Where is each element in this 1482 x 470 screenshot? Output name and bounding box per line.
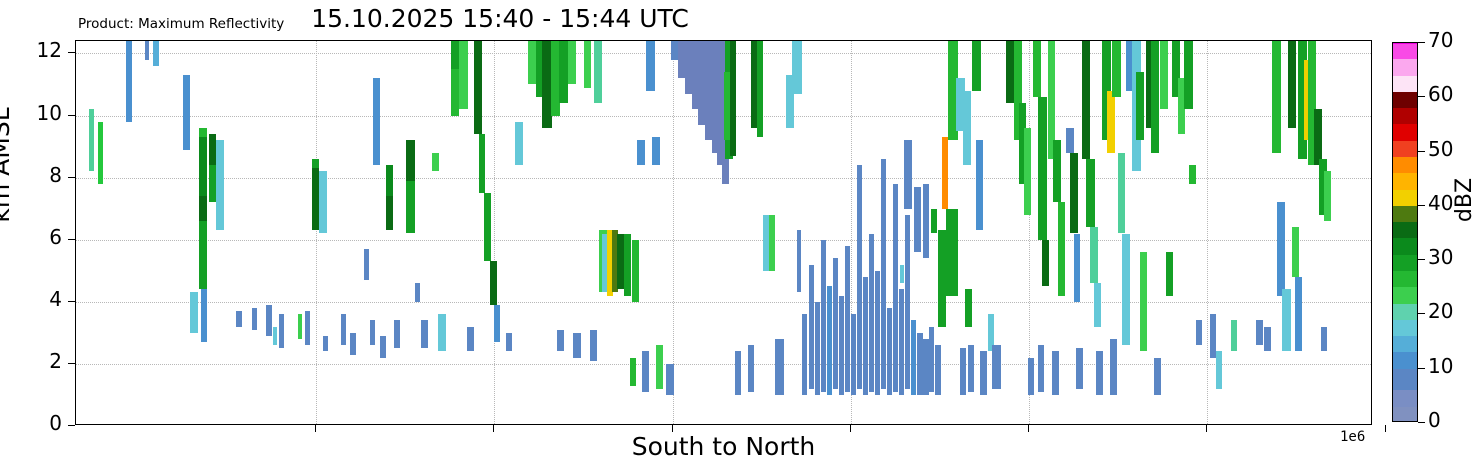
reflectivity-cell [145,41,149,60]
reflectivity-cell [881,159,886,389]
colorbar-segment [1393,76,1417,92]
reflectivity-cell [887,308,892,395]
reflectivity-cell [557,330,564,352]
colorbar-tick [1418,205,1425,206]
reflectivity-cell [980,351,987,394]
reflectivity-cell [298,314,302,339]
colorbar-segment [1393,352,1417,368]
colorbar-segment [1393,157,1417,173]
reflectivity-cell [839,296,844,395]
colorbar-segment [1393,238,1417,254]
colorbar-segment [1393,255,1417,271]
reflectivity-column [815,41,820,424]
reflectivity-cell [863,277,868,395]
reflectivity-cell [201,289,207,342]
colorbar-segment [1393,92,1417,108]
reflectivity-column [851,41,856,424]
y-axis-tick [68,301,75,302]
x-axis-tick [850,425,851,432]
reflectivity-column [341,41,346,424]
y-axis-tick [68,52,75,53]
reflectivity-column [748,41,754,424]
colorbar-tick-label: 0 [1428,408,1441,432]
reflectivity-column [438,41,446,424]
colorbar-tick-label: 20 [1428,299,1453,323]
y-axis-tick [68,177,75,178]
colorbar-segment [1393,59,1417,75]
colorbar-segment [1393,190,1417,206]
reflectivity-cell [573,333,581,358]
reflectivity-column [266,41,272,424]
reflectivity-column [467,41,474,424]
reflectivity-column [126,41,132,424]
reflectivity-cell [279,314,284,348]
colorbar-tick [1418,42,1425,43]
colorbar-tick-label: 10 [1428,354,1453,378]
reflectivity-cell [506,333,512,352]
reflectivity-cell [815,302,820,395]
reflectivity-column [809,41,814,424]
reflectivity-cell [857,165,862,389]
reflectivity-column [904,41,912,424]
reflectivity-column [893,41,898,424]
colorbar-segment [1393,320,1417,336]
reflectivity-column [406,41,415,424]
reflectivity-cell [153,41,159,66]
reflectivity-cell [893,184,898,392]
y-axis-tick-label: 8 [0,163,62,187]
colorbar-segment [1393,43,1417,44]
reflectivity-column [821,41,826,424]
reflectivity-column [273,41,277,424]
colorbar [1392,42,1418,422]
reflectivity-column [373,41,380,424]
colorbar-segment [1393,369,1417,391]
colorbar-segment [1393,287,1417,303]
reflectivity-cell [98,122,103,184]
reflectivity-cell [802,314,807,395]
reflectivity-column [153,41,159,424]
colorbar-tick [1418,313,1425,314]
reflectivity-column [923,41,929,424]
reflectivity-cell [748,345,754,392]
reflectivity-cell [183,75,190,150]
reflectivity-cell [851,314,856,395]
colorbar-segment [1393,141,1417,157]
reflectivity-cell [216,140,224,230]
reflectivity-cell [809,265,814,389]
reflectivity-column [279,41,284,424]
product-label: Product: Maximum Reflectivity [78,16,284,32]
reflectivity-cell [833,258,838,388]
colorbar-segment [1393,222,1417,238]
reflectivity-column [528,41,536,424]
reflectivity-column [630,41,636,424]
reflectivity-column [1321,41,1327,424]
reflectivity-column [914,41,921,424]
reflectivity-cell [914,187,921,252]
colorbar-segment [1393,390,1417,406]
reflectivity-column [1038,41,1044,424]
reflectivity-cell [415,283,420,302]
reflectivity-cell [190,292,198,332]
reflectivity-cell [312,159,319,168]
colorbar-segment [1393,407,1417,422]
radar-cross-section-figure: 15.10.2025 15:40 - 15:44 UTC Product: Ma… [0,0,1482,470]
reflectivity-cell [1264,327,1271,352]
reflectivity-cell [273,327,277,346]
reflectivity-column [1058,41,1065,424]
reflectivity-column [323,41,328,424]
reflectivity-cell [451,69,459,116]
reflectivity-column [451,41,459,424]
reflectivity-cell [1189,165,1196,184]
reflectivity-cell [89,109,94,171]
y-axis-tick-label: 0 [0,411,62,435]
reflectivity-column [557,41,564,424]
reflectivity-column [305,41,310,424]
reflectivity-column [209,41,216,424]
reflectivity-cell [394,320,400,348]
y-axis-tick-label: 10 [0,101,62,125]
reflectivity-cell [252,308,257,330]
reflectivity-column [802,41,807,424]
reflectivity-cell [406,140,415,180]
reflectivity-column [735,41,741,424]
reflectivity-cell [312,168,319,230]
reflectivity-column [415,41,420,424]
reflectivity-cell [266,305,272,336]
reflectivity-column [573,41,581,424]
reflectivity-cell [305,311,310,345]
reflectivity-column [875,41,880,424]
x-axis-tick [1028,425,1029,432]
reflectivity-cell [724,72,730,140]
reflectivity-cell [1058,202,1065,295]
reflectivity-cell [421,320,428,348]
reflectivity-column [216,41,224,424]
reflectivity-cell [821,240,826,392]
colorbar-segment [1393,206,1417,222]
reflectivity-column [98,41,103,424]
reflectivity-cell [515,122,523,165]
reflectivity-cell [904,140,912,208]
reflectivity-column [845,41,850,424]
reflectivity-cell [438,314,446,351]
reflectivity-cell [1216,351,1222,388]
x-axis-tick [1206,425,1207,432]
reflectivity-cell [656,345,663,388]
reflectivity-column [1231,41,1237,424]
reflectivity-cell [992,345,1001,388]
reflectivity-cell [350,333,356,355]
x-axis-tick [315,425,316,432]
reflectivity-cell [1231,320,1237,351]
y-axis-tick-label: 12 [0,38,62,62]
colorbar-segment [1393,304,1417,320]
reflectivity-column [1264,41,1271,424]
reflectivity-column [797,41,801,424]
reflectivity-column [183,41,190,424]
colorbar-tick [1418,368,1425,369]
colorbar-segment [1393,173,1417,189]
reflectivity-cell [406,181,415,234]
reflectivity-column [190,41,198,424]
reflectivity-cell [797,230,801,292]
x-axis-tick [493,425,494,432]
colorbar-label: dBZ [1452,178,1477,222]
y-axis-tick [68,363,75,364]
y-axis-tick-label: 2 [0,349,62,373]
reflectivity-column [312,41,319,424]
gridline-vertical [1207,41,1208,424]
reflectivity-cell [1321,327,1327,352]
reflectivity-column [236,41,242,424]
plot-area [75,40,1372,425]
reflectivity-cell [451,41,459,69]
reflectivity-column [145,41,149,424]
reflectivity-cell [775,339,784,395]
reflectivity-column [394,41,400,424]
colorbar-segment [1393,271,1417,287]
reflectivity-cell [1256,320,1263,345]
reflectivity-cell [827,286,832,395]
y-axis-tick [68,115,75,116]
reflectivity-column [364,41,369,424]
y-axis-tick [68,239,75,240]
reflectivity-cell [923,184,929,259]
colorbar-segment [1393,43,1417,59]
reflectivity-cell [630,358,636,386]
colorbar-gradient [1392,42,1418,422]
colorbar-segment [1393,124,1417,140]
reflectivity-cell [236,311,242,327]
reflectivity-cell [845,246,850,392]
colorbar-tick-label: 50 [1428,137,1453,161]
reflectivity-cell [494,305,500,342]
reflectivity-cell [528,41,536,84]
reflectivity-cell [1038,345,1044,392]
colorbar-tick [1418,96,1425,97]
y-axis-tick-label: 4 [0,287,62,311]
reflectivity-cell [1110,339,1117,395]
x-axis-tick [672,425,673,432]
colorbar-tick-label: 40 [1428,191,1453,215]
reflectivity-cell [617,234,624,290]
reflectivity-column [421,41,428,424]
reflectivity-column [494,41,500,424]
colorbar-tick [1418,259,1425,260]
reflectivity-column [1216,41,1222,424]
reflectivity-cell [209,134,216,165]
colorbar-tick-label: 60 [1428,82,1453,106]
reflectivity-column [252,41,257,424]
reflectivity-column [506,41,512,424]
reflectivity-column [386,41,393,424]
reflectivity-column [350,41,356,424]
reflectivity-cell [1052,351,1059,394]
reflectivity-cell [875,271,880,395]
reflectivity-column [833,41,838,424]
reflectivity-column [863,41,868,424]
y-axis-tick-label: 6 [0,225,62,249]
reflectivity-cell [364,249,369,280]
reflectivity-column [724,41,730,424]
reflectivity-cell [209,165,216,202]
reflectivity-column [1052,41,1059,424]
reflectivity-cell [341,314,346,345]
reflectivity-column [1256,41,1263,424]
reflectivity-column [1196,41,1202,424]
reflectivity-column [89,41,94,424]
reflectivity-column [298,41,302,424]
reflectivity-column [887,41,892,424]
reflectivity-column [1189,41,1196,424]
reflectivity-cell [373,78,380,165]
colorbar-tick [1418,422,1425,423]
reflectivity-cell [467,327,474,352]
reflectivity-column [201,41,207,424]
reflectivity-column [617,41,624,424]
reflectivity-column [881,41,886,424]
reflectivity-column [515,41,523,424]
colorbar-tick-label: 30 [1428,245,1453,269]
reflectivity-cell [869,234,874,392]
x-axis-label: South to North [75,432,1372,461]
colorbar-segment [1393,336,1417,352]
reflectivity-column [992,41,1001,424]
reflectivity-column [980,41,987,424]
colorbar-tick [1418,151,1425,152]
reflectivity-column [839,41,844,424]
reflectivity-cell [386,196,393,230]
reflectivity-column [857,41,862,424]
reflectivity-cell [323,336,328,352]
reflectivity-cell [1196,320,1202,345]
reflectivity-column [656,41,663,424]
reflectivity-column [1110,41,1117,424]
x-axis-tick [1385,425,1386,432]
colorbar-segment [1393,108,1417,124]
x-axis-offset-text: 1e6 [1340,429,1365,445]
reflectivity-cell [386,165,393,196]
reflectivity-cell [126,41,132,122]
reflectivity-column [827,41,832,424]
reflectivity-column [775,41,784,424]
colorbar-tick-label: 70 [1428,28,1453,52]
reflectivity-cell [735,351,741,394]
y-axis-tick [68,425,75,426]
reflectivity-column [869,41,874,424]
